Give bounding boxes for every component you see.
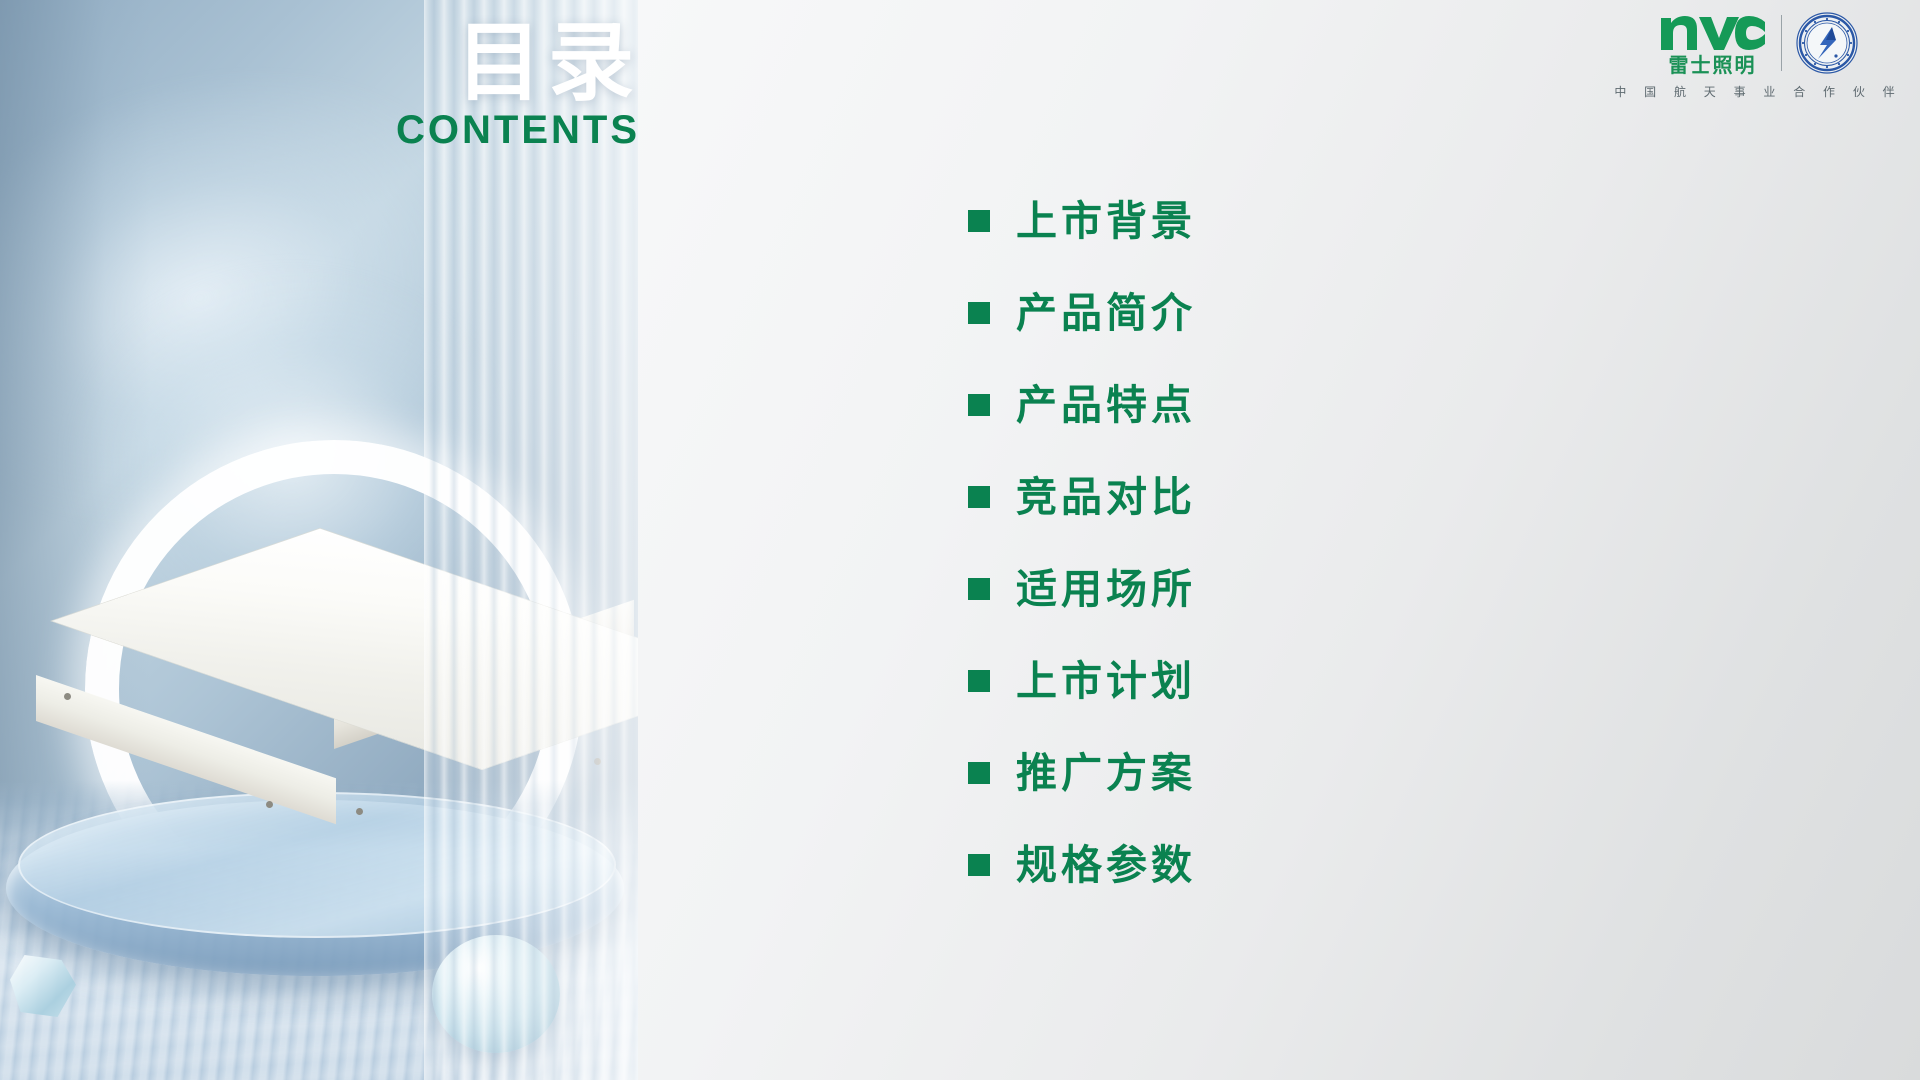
product-screw (356, 808, 363, 815)
toc-item-6[interactable]: 上市计划 (968, 635, 1588, 727)
toc-item-5[interactable]: 适用场所 (968, 543, 1588, 635)
toc-item-4[interactable]: 竞品对比 (968, 451, 1588, 543)
square-bullet-icon (968, 670, 990, 692)
left-visual-panel: 目录 CONTENTS (0, 0, 638, 1080)
square-bullet-icon (968, 578, 990, 600)
toc-item-label: 规格参数 (1016, 845, 1196, 886)
toc-item-1[interactable]: 上市背景 (968, 175, 1588, 267)
toc-item-label: 上市背景 (1016, 201, 1196, 242)
square-bullet-icon (968, 486, 990, 508)
logo-divider (1781, 15, 1782, 71)
product-screw (64, 693, 71, 700)
title-block: 目录 CONTENTS (340, 18, 638, 150)
square-bullet-icon (968, 854, 990, 876)
partner-tagline: 中 国 航 天 事 业 合 作 伙 伴 (1614, 83, 1901, 100)
page-subtitle: CONTENTS (340, 110, 638, 150)
square-bullet-icon (968, 394, 990, 416)
square-bullet-icon (968, 762, 990, 784)
square-bullet-icon (968, 302, 990, 324)
nvc-logo-cn-text: 雷士照明 (1669, 55, 1757, 75)
toc-item-label: 适用场所 (1016, 569, 1196, 610)
brand-logo-lockup: 雷士照明 (1622, 10, 1894, 100)
fluted-glass-sheen (424, 0, 638, 1080)
toc-item-8[interactable]: 规格参数 (968, 819, 1588, 911)
product-screw (266, 801, 273, 808)
toc-item-7[interactable]: 推广方案 (968, 727, 1588, 819)
toc-item-label: 产品简介 (1016, 293, 1196, 334)
table-of-contents: 上市背景 产品简介 产品特点 竞品对比 适用场所 上市计划 (968, 175, 1588, 911)
toc-item-label: 产品特点 (1016, 385, 1196, 426)
toc-item-label: 上市计划 (1016, 661, 1196, 702)
nvc-wordmark-icon (1659, 10, 1767, 52)
toc-item-label: 竞品对比 (1016, 477, 1196, 518)
toc-item-3[interactable]: 产品特点 (968, 359, 1588, 451)
square-bullet-icon (968, 210, 990, 232)
nvc-logo: 雷士照明 (1659, 10, 1767, 75)
toc-item-label: 推广方案 (1016, 753, 1196, 794)
page-title: 目录 (340, 18, 638, 108)
toc-item-2[interactable]: 产品简介 (968, 267, 1588, 359)
slide-root: 目录 CONTENTS 雷士照明 (0, 0, 1920, 1080)
right-content-panel: 雷士照明 (638, 0, 1920, 1080)
logo-row: 雷士照明 (1659, 10, 1858, 75)
aerospace-emblem-icon (1796, 12, 1858, 74)
